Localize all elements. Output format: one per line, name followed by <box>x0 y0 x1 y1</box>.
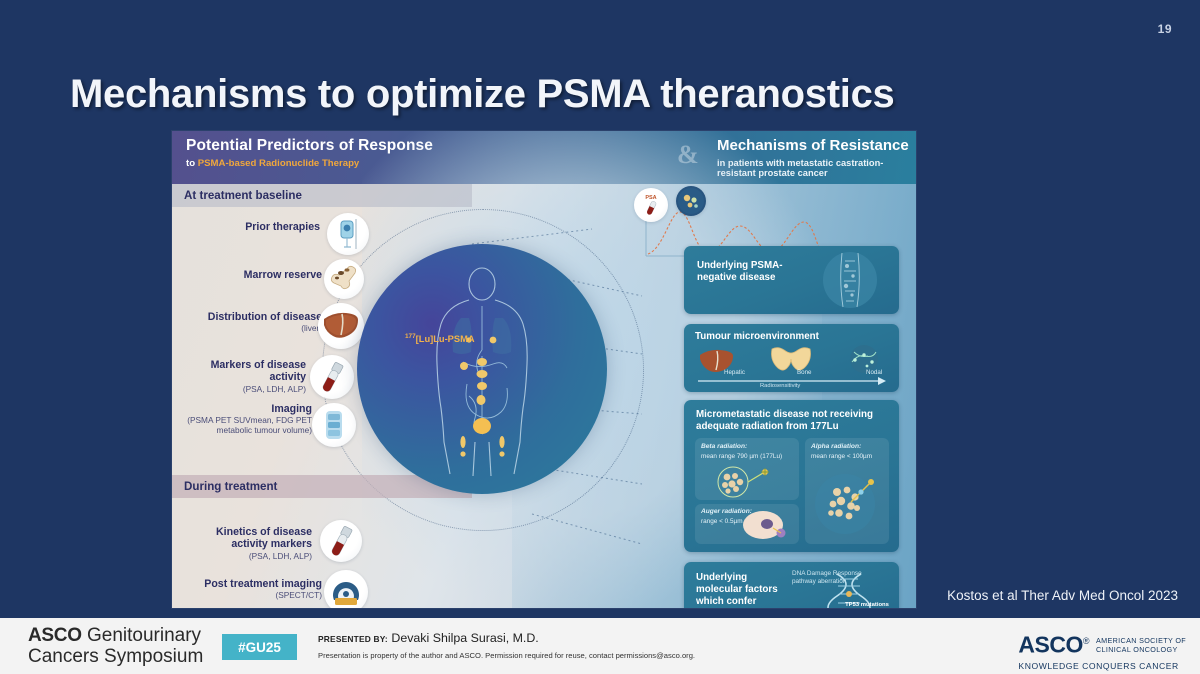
card-title: Underlying PSMA-negative disease <box>697 260 797 284</box>
header-right: Mechanisms of Resistance in patients wit… <box>717 137 916 178</box>
subcard-beta-radiation: Beta radiation: mean range 790 µm (177Lu… <box>695 438 799 500</box>
tme-label-bone: Bone <box>797 369 811 376</box>
asco-society-line-2: CLINICAL ONCOLOGY <box>1096 646 1186 655</box>
item-title: Marrow reserve <box>192 269 322 281</box>
item-title: Markers of disease activity <box>176 359 306 384</box>
blood-tube-icon <box>320 520 362 562</box>
pet-scan-icon <box>312 403 356 447</box>
item-prior-therapies: Prior therapies <box>230 221 320 233</box>
patient-body-scan-icon <box>357 244 607 494</box>
svg-text:PSA: PSA <box>645 195 656 201</box>
card-title: Micrometastatic disease not receiving ad… <box>696 409 892 433</box>
tme-axis-label: Radiosensitivity <box>760 383 800 389</box>
asco-logo-row: ASCO® AMERICAN SOCIETY OF CLINICAL ONCOL… <box>1018 630 1186 657</box>
infographic-body: At treatment baseline Prior therapies Ma… <box>172 184 916 608</box>
during-treatment-items: Kinetics of disease activity markers (PS… <box>172 498 472 608</box>
slide: 19 Mechanisms to optimize PSMA theranost… <box>0 0 1200 674</box>
subcard-auger-radiation: Auger radiation: range < 0.5µm <box>695 504 799 544</box>
item-subtitle: (PSA, LDH, ALP) <box>176 384 306 394</box>
card-molecular-factors[interactable]: Underlying molecular factors which confe… <box>684 562 899 608</box>
section-label: During treatment <box>184 480 277 493</box>
subcard-subtitle: range < 0.5µm <box>701 518 743 526</box>
page-title: Mechanisms to optimize PSMA theranostics <box>70 72 894 117</box>
header-left-sub-highlight: PSMA-based Radionuclide Therapy <box>198 158 360 169</box>
tme-label-nodal: Nodal <box>866 369 882 376</box>
header-left-sub-prefix: to <box>186 158 198 169</box>
card-title: Underlying molecular factors which confe… <box>696 572 788 608</box>
card-micrometastatic-disease[interactable]: Micrometastatic disease not receiving ad… <box>684 400 899 552</box>
presenter-name: Devaki Shilpa Surasi, M.D. <box>391 631 538 645</box>
item-subtitle: (liver) <box>182 323 322 333</box>
item-title: Imaging <box>172 403 312 415</box>
subcard-subtitle: mean range 790 µm (177Lu) <box>701 453 782 461</box>
item-markers-of-disease-activity: Markers of disease activity (PSA, LDH, A… <box>176 359 306 394</box>
page-number: 19 <box>1158 22 1172 36</box>
registered-mark-icon: ® <box>1083 636 1089 646</box>
card-title: Tumour microenvironment <box>695 331 819 343</box>
item-title: Kinetics of disease activity markers <box>182 526 312 551</box>
tme-label-hepatic: Hepatic <box>724 369 745 376</box>
spect-ct-icon <box>324 570 368 608</box>
blood-tube-icon <box>310 355 354 399</box>
status-badge: TP53 mutations <box>845 602 889 608</box>
conference-line-2: Cancers Symposium <box>28 647 203 668</box>
header-ampersand: & <box>677 140 699 170</box>
item-title: Prior therapies <box>230 221 320 233</box>
beta-range-icon <box>707 464 781 498</box>
section-label: At treatment baseline <box>184 189 302 202</box>
header-right-title: Mechanisms of Resistance <box>717 137 916 154</box>
conference-line-1: ASCO Genitourinary <box>28 626 203 647</box>
asco-logo: ASCO® <box>1018 630 1089 657</box>
asco-logo-text: ASCO <box>1018 632 1082 658</box>
infographic: Potential Predictors of Response to PSMA… <box>172 131 916 608</box>
infographic-header: Potential Predictors of Response to PSMA… <box>172 131 916 184</box>
presented-by-label: Presented by: <box>318 634 388 644</box>
disclaimer: Presentation is property of the author a… <box>318 651 695 660</box>
item-kinetics-of-disease-activity-markers: Kinetics of disease activity markers (PS… <box>182 526 312 561</box>
item-subtitle: (PSA, LDH, ALP) <box>182 551 312 561</box>
card-psma-negative-disease[interactable]: Underlying PSMA-negative disease <box>684 246 899 314</box>
agent-label-superscript: 177 <box>405 333 416 340</box>
hashtag-badge[interactable]: #GU25 <box>222 634 297 660</box>
item-imaging: Imaging (PSMA PET SUVmean, FDG PET metab… <box>172 403 312 435</box>
header-left-subtitle: to PSMA-based Radionuclide Therapy <box>186 158 433 169</box>
item-title: Distribution of disease <box>182 311 322 323</box>
alpha-range-icon <box>811 466 885 538</box>
footer: ASCO Genitourinary Cancers Symposium #GU… <box>0 618 1200 674</box>
header-left-title: Potential Predictors of Response <box>186 137 433 155</box>
psa-marker-icon: PSA <box>634 188 668 222</box>
subcard-alpha-radiation: Alpha radiation: mean range < 100µm <box>805 438 889 544</box>
conference-logo: ASCO Genitourinary Cancers Symposium <box>28 626 203 667</box>
citation: Kostos et al Ther Adv Med Oncol 2023 <box>947 588 1178 603</box>
item-post-treatment-imaging: Post treatment imaging (SPECT/CT) <box>182 578 322 600</box>
asco-society-name: AMERICAN SOCIETY OF CLINICAL ONCOLOGY <box>1096 637 1186 656</box>
presenter-block: Presented by: Devaki Shilpa Surasi, M.D.… <box>318 631 695 660</box>
item-subtitle: (PSMA PET SUVmean, FDG PET metabolic tum… <box>172 415 312 435</box>
header-left: Potential Predictors of Response to PSMA… <box>186 137 433 169</box>
agent-label: 177[Lu]Lu-PSMA <box>405 333 475 344</box>
section-at-treatment-baseline: At treatment baseline <box>172 184 472 207</box>
item-title: Post treatment imaging <box>182 578 322 590</box>
asco-wordmark: ASCO <box>28 625 82 646</box>
auger-cell-icon <box>739 508 795 542</box>
presenter-line: Presented by: Devaki Shilpa Surasi, M.D. <box>318 631 695 645</box>
header-right-subtitle: in patients with metastatic castration-r… <box>717 158 916 178</box>
spine-scan-icon <box>819 249 881 311</box>
asco-logo-block: ASCO® AMERICAN SOCIETY OF CLINICAL ONCOL… <box>1018 630 1186 671</box>
card-tumour-microenvironment[interactable]: Tumour microenvironment Hepatic Bone <box>684 324 899 392</box>
subcard-title: Beta radiation: <box>701 443 747 451</box>
item-subtitle: (SPECT/CT) <box>182 590 322 600</box>
subcard-title: Alpha radiation: <box>811 443 861 451</box>
item-marrow-reserve: Marrow reserve <box>192 269 322 281</box>
subcard-subtitle: mean range < 100µm <box>811 453 872 461</box>
conference-line-1-rest: Genitourinary <box>82 625 201 646</box>
asco-tagline: KNOWLEDGE CONQUERS CANCER <box>1018 661 1186 671</box>
tumour-cell-icon <box>676 186 706 216</box>
item-distribution-of-disease: Distribution of disease (liver) <box>182 311 322 333</box>
